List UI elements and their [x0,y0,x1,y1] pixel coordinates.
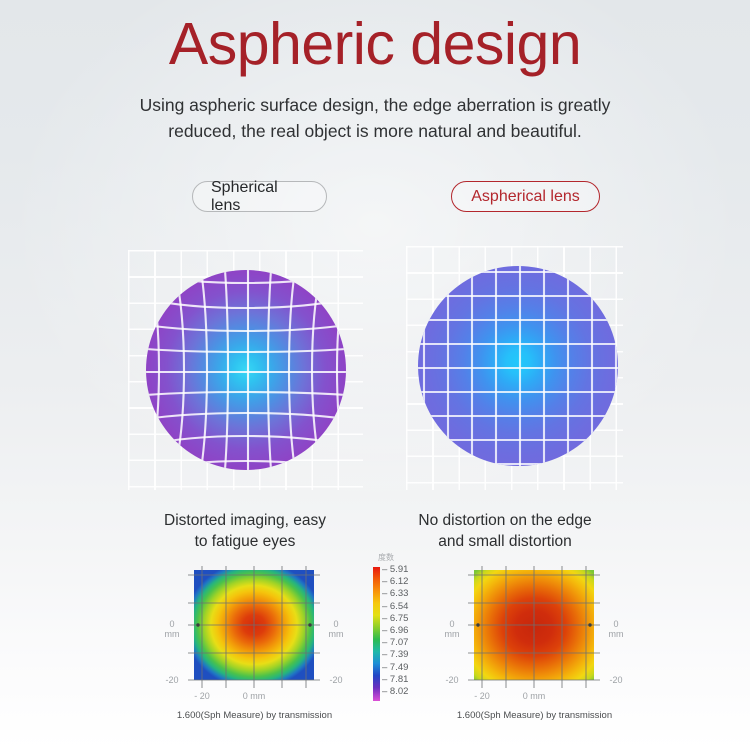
badge-aspherical-lens-label: Aspherical lens [471,188,580,206]
aspherical-heatmap-ymin-right: -20 [602,675,630,685]
aspherical-heatmap-ymin-left: -20 [438,675,466,685]
spherical-heatmap-xmin: - 20 [182,691,222,701]
page-title: Aspheric design [0,12,750,77]
aspherical-heatmap-block: 0mm 0mm -20 -20 - 20 0 mm 1.600(Sph Meas… [432,558,637,748]
aspherical-lens-caption: No distortion on the edge and small dist… [355,510,655,552]
spherical-lens-distorted-grid [146,270,346,470]
spherical-caption-line-2: to fatigue eyes [95,531,395,552]
spherical-lens-caption: Distorted imaging, easy to fatigue eyes [95,510,395,552]
colorbar-tick: – 6.54 [382,601,408,613]
badge-spherical-lens-label: Spherical lens [211,179,308,215]
subtitle-line-2: reduced, the real object is more natural… [0,118,750,144]
aspherical-heatmap-caption: 1.600(Sph Measure) by transmission [432,710,637,721]
spherical-lens-illustration [128,250,363,490]
aspherical-caption-line-1: No distortion on the edge [355,510,655,531]
spherical-heatmap-xzero: 0 mm [234,691,274,701]
colorbar-tick: – 8.02 [382,686,408,698]
aspherical-caption-line-2: and small distortion [355,531,655,552]
spherical-heatmap-ylabel-right: 0mm [322,619,350,639]
colorbar-tick: – 7.07 [382,637,408,649]
spherical-heatmap-caption: 1.600(Sph Measure) by transmission [152,710,357,721]
spherical-heatmap-ymin-right: -20 [322,675,350,685]
colorbar-tick: – 7.49 [382,662,408,674]
aspherical-lens-illustration [388,250,623,490]
spherical-heatmap-ymin-left: -20 [158,675,186,685]
badge-spherical-lens[interactable]: Spherical lens [192,181,327,212]
aspherical-lens-straight-grid [418,266,618,466]
spherical-caption-line-1: Distorted imaging, easy [95,510,395,531]
spherical-heatmap-ylabel-left: 0mm [158,619,186,639]
badge-aspherical-lens[interactable]: Aspherical lens [451,181,600,212]
colorbar-tick: – 6.75 [382,613,408,625]
colorbar-tick: – 6.12 [382,576,408,588]
colorbar-tick: – 7.39 [382,649,408,661]
subtitle-line-1: Using aspheric surface design, the edge … [0,92,750,118]
aspherical-lens-disc [418,266,618,466]
page-subtitle: Using aspheric surface design, the edge … [0,92,750,144]
colorbar-tick: – 5.91 [382,564,408,576]
spherical-heatmap-block: 0mm 0mm -20 -20 - 20 0 mm 1.600(Sph Meas… [152,558,357,748]
aspherical-heatmap-xmin: - 20 [462,691,502,701]
heatmap-colorbar-legend: 度数 – 5.91 – 6.12 – 6.33 – 6.54 – 6.75 – … [364,552,426,712]
aspherical-heatmap-xzero: 0 mm [514,691,554,701]
colorbar-gradient [373,567,380,701]
colorbar-tick-list: – 5.91 – 6.12 – 6.33 – 6.54 – 6.75 – 6.9… [382,564,408,698]
colorbar-title: 度数 [364,552,408,563]
aspherical-heatmap-ylabel-right: 0mm [602,619,630,639]
spherical-lens-disc [146,270,346,470]
aspherical-heatmap-ylabel-left: 0mm [438,619,466,639]
colorbar-tick: – 7.81 [382,674,408,686]
lens-type-badges: Spherical lens Aspherical lens [0,181,750,213]
colorbar-tick: – 6.33 [382,588,408,600]
colorbar-tick: – 6.96 [382,625,408,637]
